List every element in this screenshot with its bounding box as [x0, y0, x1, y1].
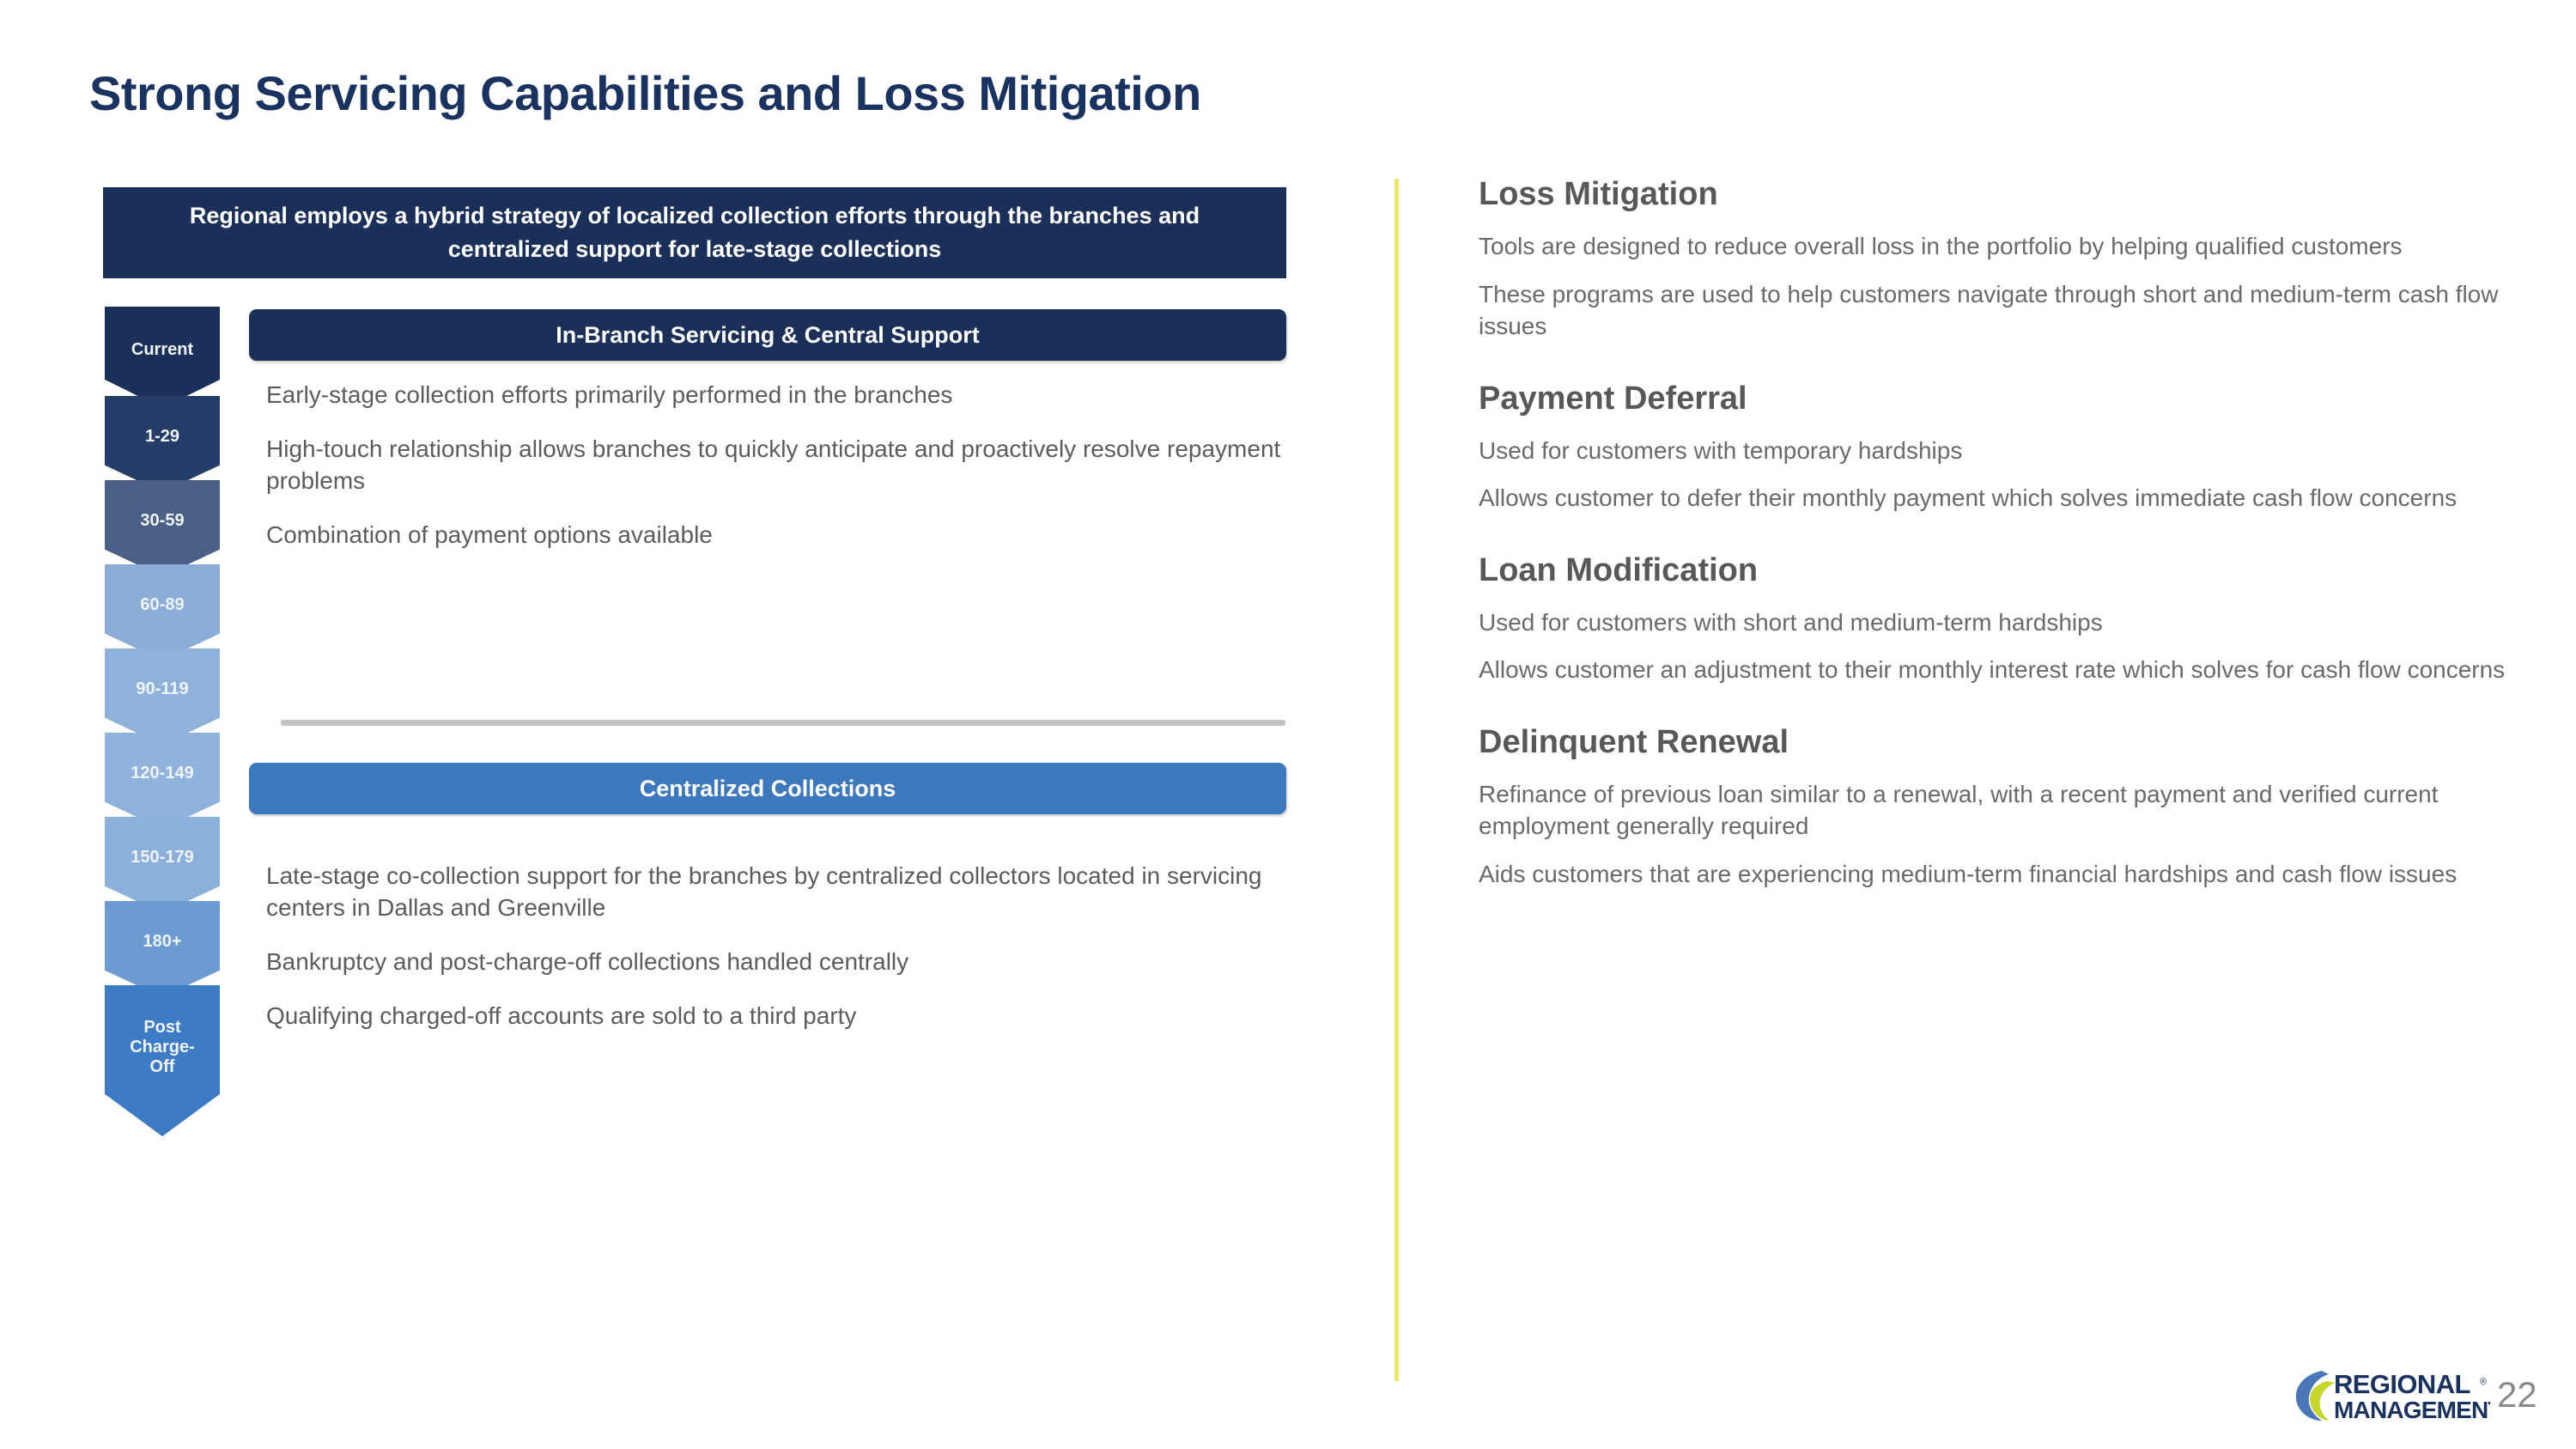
chevron-bucket: 180+: [105, 901, 220, 997]
block-heading: Loan Modification: [1479, 552, 2526, 589]
chevron-bucket: 150-179: [105, 817, 220, 913]
chevron-bucket-label: 150-179: [127, 848, 197, 868]
list-item: Early-stage collection efforts primarily…: [266, 380, 1288, 411]
regional-management-logo: REGIONAL MANAGEMENT ®: [2289, 1364, 2490, 1426]
hero-banner-text: Regional employs a hybrid strategy of lo…: [155, 199, 1235, 266]
block-paragraph: Tools are designed to reduce overall los…: [1479, 230, 2526, 263]
block-paragraph: Refinance of previous loan similar to a …: [1479, 778, 2526, 843]
chevron-bucket-label: PostCharge-Off: [126, 1018, 198, 1077]
chevron-bucket-label: 60-89: [137, 595, 187, 615]
chevron-bucket: 120-149: [105, 733, 220, 829]
delinquency-chevron-stack: Current1-2930-5960-8990-119120-149150-17…: [105, 307, 220, 1136]
hero-banner: Regional employs a hybrid strategy of lo…: [103, 187, 1286, 278]
block-paragraph: These programs are used to help customer…: [1479, 278, 2526, 343]
chevron-bucket: 90-119: [105, 648, 220, 745]
chevron-bucket-label: 30-59: [137, 511, 187, 531]
list-item: Combination of payment options available: [266, 520, 1288, 551]
left-column: Regional employs a hybrid strategy of lo…: [0, 0, 1374, 1449]
block-heading: Loss Mitigation: [1479, 176, 2526, 213]
list-item: Late-stage co-collection support for the…: [266, 861, 1288, 924]
list-item: High-touch relationship allows branches …: [266, 434, 1288, 497]
chevron-bucket-label: 1-29: [142, 427, 183, 447]
block-paragraph: Allows customer to defer their monthly p…: [1479, 482, 2526, 514]
chevron-bucket: PostCharge-Off: [105, 985, 220, 1136]
block-delinquent-renewal: Delinquent Renewal Refinance of previous…: [1479, 724, 2526, 891]
chevron-bucket: 60-89: [105, 564, 220, 661]
block-heading: Payment Deferral: [1479, 381, 2526, 417]
bullet-group-in-branch: Early-stage collection efforts primarily…: [266, 380, 1288, 574]
block-heading: Delinquent Renewal: [1479, 724, 2526, 761]
block-paragraph: Used for customers with short and medium…: [1479, 606, 2526, 639]
section-header-centralized: Centralized Collections: [249, 763, 1286, 814]
chevron-bucket-label: 180+: [139, 932, 185, 952]
block-payment-deferral: Payment Deferral Used for customers with…: [1479, 381, 2526, 514]
list-item: Qualifying charged-off accounts are sold…: [266, 1001, 1288, 1032]
block-paragraph: Allows customer an adjustment to their m…: [1479, 654, 2526, 686]
horizontal-divider: [281, 720, 1285, 726]
registered-mark-icon: ®: [2480, 1377, 2487, 1387]
logo-line1: REGIONAL: [2334, 1369, 2470, 1399]
bullet-group-centralized: Late-stage co-collection support for the…: [266, 861, 1288, 1055]
section-header-in-branch: In-Branch Servicing & Central Support: [249, 309, 1286, 361]
block-paragraph: Used for customers with temporary hardsh…: [1479, 435, 2526, 467]
chevron-bucket-label: 120-149: [127, 764, 197, 783]
chevron-bucket: 1-29: [105, 396, 220, 492]
swoosh-logo-icon: REGIONAL MANAGEMENT ®: [2289, 1364, 2490, 1426]
block-paragraph: Aids customers that are experiencing med…: [1479, 858, 2526, 891]
chevron-bucket: Current: [105, 307, 220, 408]
right-column: Loss Mitigation Tools are designed to re…: [1479, 176, 2526, 928]
block-loss-mitigation: Loss Mitigation Tools are designed to re…: [1479, 176, 2526, 343]
vertical-accent-divider: [1394, 179, 1399, 1381]
chevron-bucket-label: 90-119: [132, 679, 191, 699]
block-loan-modification: Loan Modification Used for customers wit…: [1479, 552, 2526, 686]
chevron-bucket-label: Current: [128, 340, 197, 360]
chevron-bucket: 30-59: [105, 480, 220, 576]
list-item: Bankruptcy and post-charge-off collectio…: [266, 947, 1288, 978]
section-header-centralized-label: Centralized Collections: [640, 776, 896, 802]
page-number: 22: [2497, 1374, 2537, 1416]
logo-line2: MANAGEMENT: [2334, 1397, 2490, 1423]
section-header-in-branch-label: In-Branch Servicing & Central Support: [556, 322, 980, 349]
